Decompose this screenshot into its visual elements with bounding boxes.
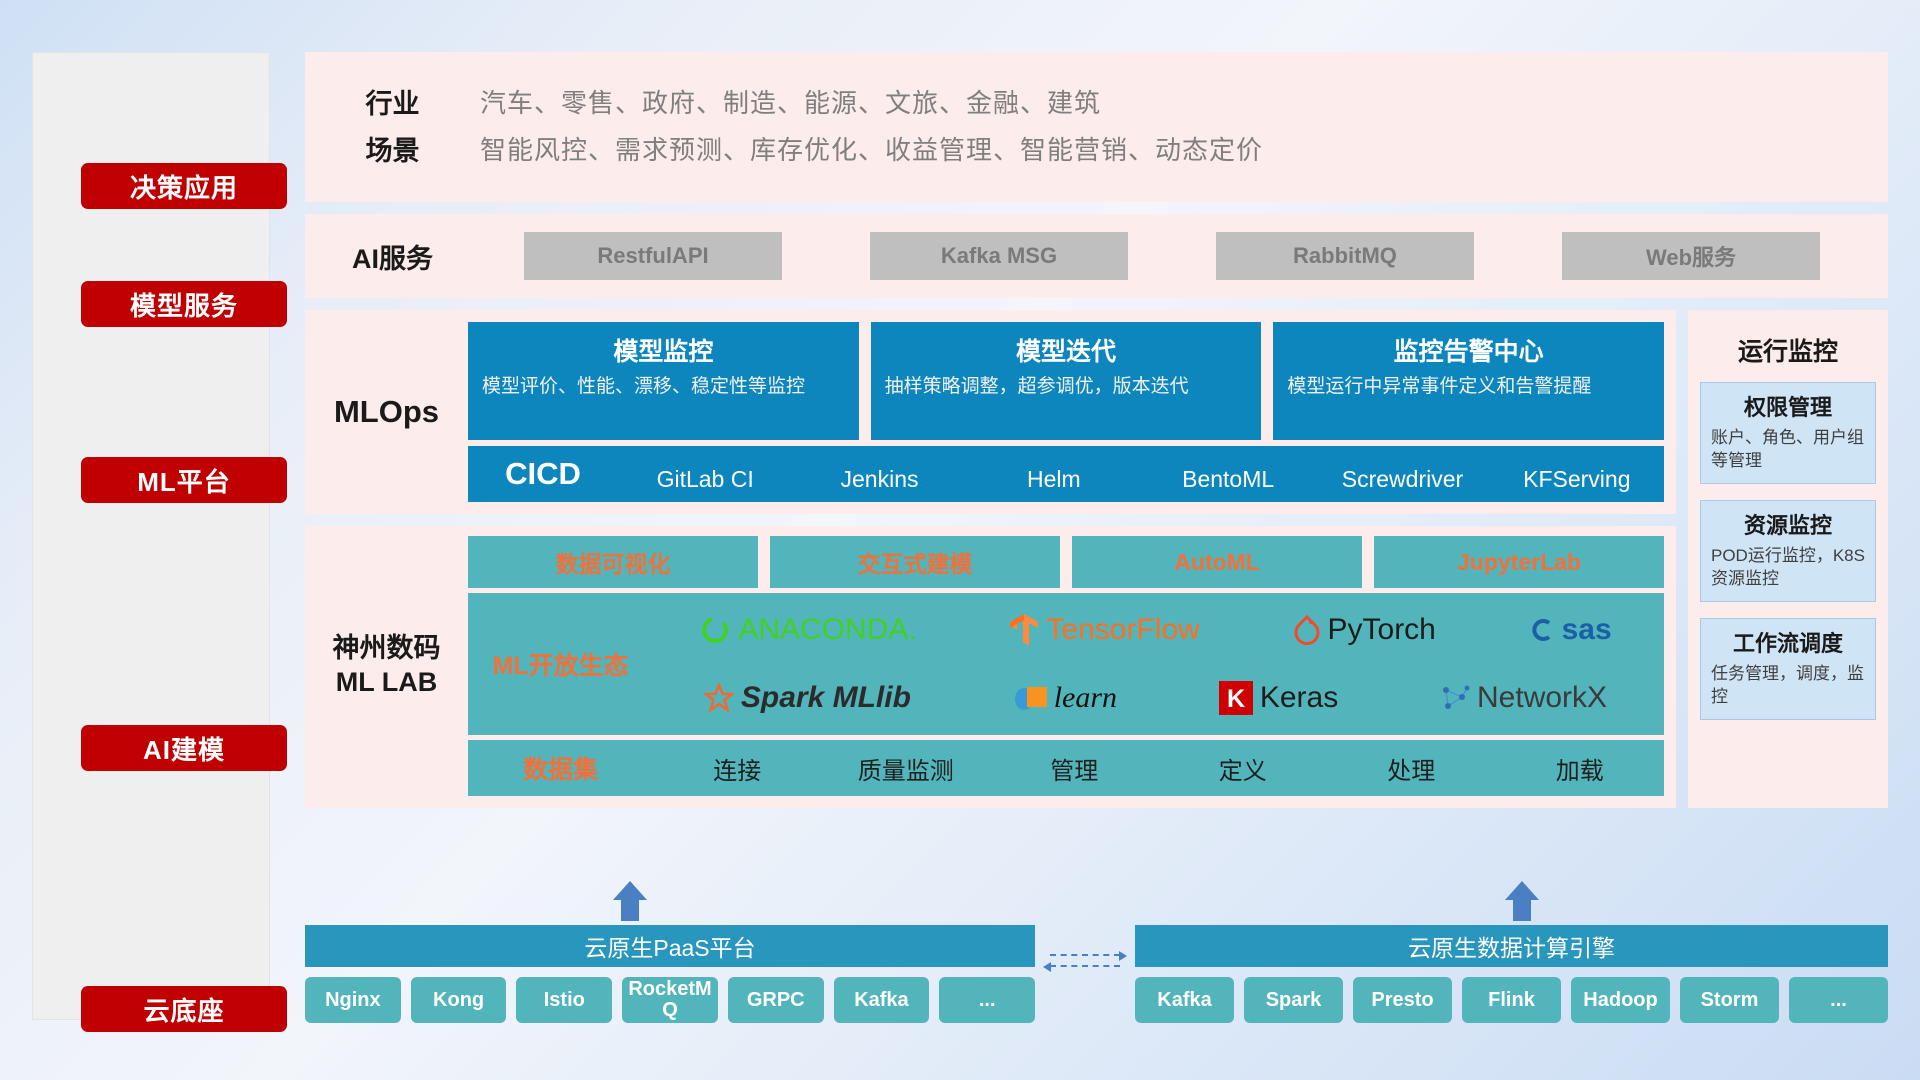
monitor-card-desc: 任务管理，调度，监控 (1711, 663, 1865, 709)
mlops-box-model-monitoring[interactable]: 模型监控 模型评价、性能、漂移、稳定性等监控 (468, 322, 859, 440)
ml-lab-label-line1: 神州数码 (333, 632, 441, 666)
paas-platform-tags: Nginx Kong Istio RocketMQ GRPC Kafka ... (305, 977, 1035, 1023)
networkx-icon (1440, 683, 1470, 713)
ml-lab-band: 神州数码 ML LAB 数据可视化 交互式建模 AutoML JupyterLa… (305, 526, 1676, 808)
paas-platform-group: 云原生PaaS平台 Nginx Kong Istio RocketMQ GRPC… (305, 925, 1035, 1023)
cicd-item-helm[interactable]: Helm (967, 455, 1141, 494)
band-divider (305, 298, 1888, 310)
anaconda-logo: ANACONDA. (699, 613, 916, 647)
keras-logo: K Keras (1219, 681, 1338, 715)
ai-service-chip-rabbitmq[interactable]: RabbitMQ (1216, 232, 1474, 280)
up-arrow-left-icon (613, 881, 647, 921)
pytorch-logo: PyTorch (1293, 613, 1436, 647)
ai-service-chip-restfulapi[interactable]: RestfulAPI (524, 232, 782, 280)
dataset-row: 数据集 连接 质量监测 管理 定义 处理 加载 (468, 740, 1664, 796)
logo-row-2: Spark MLlib learn (653, 665, 1658, 731)
rail-item-label: 决策应用 (130, 168, 238, 205)
anaconda-text: ANACONDA. (738, 613, 916, 647)
dataset-item-process[interactable]: 处理 (1327, 751, 1496, 786)
platform-and-monitoring: MLOps 模型监控 模型评价、性能、漂移、稳定性等监控 模型迭代 抽样策略调整… (305, 310, 1888, 808)
sas-text: sas (1562, 613, 1612, 647)
ml-open-ecosystem: ML开放生态 ANACONDA. (468, 593, 1664, 735)
cicd-item-screwdriver[interactable]: Screwdriver (1315, 455, 1489, 494)
ai-service-label: AI服务 (305, 237, 480, 276)
ai-service-chips: RestfulAPI Kafka MSG RabbitMQ Web服务 (480, 232, 1888, 280)
rail-item-label: 云底座 (143, 991, 224, 1028)
tag-kong[interactable]: Kong (411, 977, 507, 1023)
dashed-arrow-left-icon (1050, 965, 1120, 967)
cicd-item-gitlab-ci[interactable]: GitLab CI (618, 455, 792, 494)
tag-kafka-right[interactable]: Kafka (1135, 977, 1234, 1023)
mlops-box-title: 监控告警中心 (1287, 332, 1650, 368)
main-stack: 行业 汽车、零售、政府、制造、能源、文旅、金融、建筑 场景 智能风控、需求预测、… (305, 52, 1888, 808)
sas-icon (1529, 617, 1555, 643)
ml-open-ecosystem-label: ML开放生态 (468, 593, 653, 735)
cicd-label: CICD (468, 456, 618, 492)
tag-grpc[interactable]: GRPC (728, 977, 824, 1023)
dataset-item-define[interactable]: 定义 (1159, 751, 1328, 786)
dashed-arrow-right-icon (1050, 954, 1120, 956)
ml-lab-label: 神州数码 ML LAB (305, 536, 468, 796)
scenario-row: 场景 智能风控、需求预测、库存优化、收益管理、智能营销、动态定价 (305, 129, 1888, 168)
data-compute-engine-tags: Kafka Spark Presto Flink Hadoop Storm ..… (1135, 977, 1888, 1023)
rail-item-ai-modeling[interactable]: AI建模 (81, 725, 287, 771)
tensorflow-icon (1009, 613, 1039, 647)
bidirectional-dashed-connector (1050, 945, 1120, 976)
mlops-box-desc: 抽样策略调整，超参调优，版本迭代 (885, 375, 1248, 400)
anaconda-icon (699, 614, 731, 646)
monitor-card-workflow[interactable]: 工作流调度 任务管理，调度，监控 (1700, 618, 1876, 720)
tag-presto[interactable]: Presto (1353, 977, 1452, 1023)
sas-logo: sas (1529, 613, 1612, 647)
mlops-box-title: 模型迭代 (885, 332, 1248, 368)
tag-more-left[interactable]: ... (939, 977, 1035, 1023)
data-compute-engine-bar[interactable]: 云原生数据计算引擎 (1135, 925, 1888, 967)
tensorflow-text: TensorFlow (1046, 613, 1199, 647)
data-compute-engine-group: 云原生数据计算引擎 Kafka Spark Presto Flink Hadoo… (1135, 925, 1888, 1023)
rail-item-label: AI建模 (143, 730, 225, 767)
decision-app-band: 行业 汽车、零售、政府、制造、能源、文旅、金融、建筑 场景 智能风控、需求预测、… (305, 52, 1888, 202)
pytorch-text: PyTorch (1328, 613, 1436, 647)
dataset-label: 数据集 (468, 750, 653, 786)
mlops-box-desc: 模型运行中异常事件定义和告警提醒 (1287, 375, 1650, 400)
tag-storm[interactable]: Storm (1680, 977, 1779, 1023)
industry-value: 汽车、零售、政府、制造、能源、文旅、金融、建筑 (480, 83, 1101, 120)
monitor-card-resource[interactable]: 资源监控 POD运行监控，K8S资源监控 (1700, 500, 1876, 602)
tag-rocketmq[interactable]: RocketMQ (622, 977, 718, 1023)
up-arrow-right-icon (1505, 881, 1539, 921)
tag-istio[interactable]: Istio (516, 977, 612, 1023)
industry-label: 行业 (305, 82, 480, 121)
ml-lab-tabs: 数据可视化 交互式建模 AutoML JupyterLab (468, 536, 1664, 588)
scikit-learn-text: learn (1054, 681, 1117, 715)
monitor-card-title: 资源监控 (1711, 508, 1865, 540)
cloud-base-section: 云原生PaaS平台 Nginx Kong Istio RocketMQ GRPC… (305, 893, 1888, 1021)
dataset-item-quality-monitor[interactable]: 质量监测 (822, 751, 991, 786)
rail-item-ml-platform[interactable]: ML平台 (81, 457, 287, 503)
dataset-item-manage[interactable]: 管理 (990, 751, 1159, 786)
monitor-card-title: 权限管理 (1711, 390, 1865, 422)
mlops-band: MLOps 模型监控 模型评价、性能、漂移、稳定性等监控 模型迭代 抽样策略调整… (305, 310, 1676, 514)
rail-item-label: ML平台 (137, 462, 231, 499)
ai-service-band: AI服务 RestfulAPI Kafka MSG RabbitMQ Web服务 (305, 214, 1888, 298)
dataset-item-load[interactable]: 加载 (1496, 751, 1665, 786)
monitor-card-desc: POD运行监控，K8S资源监控 (1711, 545, 1865, 591)
rail-item-model-service[interactable]: 模型服务 (81, 281, 287, 327)
svg-text:K: K (1227, 685, 1245, 713)
tab-interactive-modeling[interactable]: 交互式建模 (770, 536, 1060, 588)
mlops-label: MLOps (305, 322, 468, 502)
keras-icon: K (1219, 681, 1253, 715)
cicd-item-bentoml[interactable]: BentoML (1141, 455, 1315, 494)
mlops-box-model-iteration[interactable]: 模型迭代 抽样策略调整，超参调优，版本迭代 (871, 322, 1262, 440)
cicd-row: CICD GitLab CI Jenkins Helm BentoML Scre… (468, 446, 1664, 502)
spark-mllib-text: Spark MLlib (741, 681, 911, 715)
tab-data-visualization[interactable]: 数据可视化 (468, 536, 758, 588)
pytorch-icon (1293, 614, 1321, 646)
mlops-boxes: 模型监控 模型评价、性能、漂移、稳定性等监控 模型迭代 抽样策略调整，超参调优，… (468, 322, 1664, 440)
cicd-item-kfserving[interactable]: KFServing (1490, 455, 1664, 494)
rail-item-cloud-base[interactable]: 云底座 (81, 986, 287, 1032)
tag-more-right[interactable]: ... (1789, 977, 1888, 1023)
tab-automl[interactable]: AutoML (1072, 536, 1362, 588)
spark-star-icon (704, 683, 734, 713)
mlops-box-title: 模型监控 (482, 332, 845, 368)
rail-item-decision-app[interactable]: 决策应用 (81, 163, 287, 209)
tag-spark[interactable]: Spark (1244, 977, 1343, 1023)
paas-platform-bar[interactable]: 云原生PaaS平台 (305, 925, 1035, 967)
architecture-diagram: 决策应用 模型服务 ML平台 AI建模 云底座 行业 汽车、零售、政府、制造、能… (0, 0, 1920, 1080)
tag-kafka[interactable]: Kafka (834, 977, 930, 1023)
cicd-item-jenkins[interactable]: Jenkins (792, 455, 966, 494)
tensorflow-logo: TensorFlow (1009, 613, 1199, 647)
tag-flink[interactable]: Flink (1462, 977, 1561, 1023)
monitor-card-permission[interactable]: 权限管理 账户、角色、用户组等管理 (1700, 382, 1876, 484)
mlops-box-desc: 模型评价、性能、漂移、稳定性等监控 (482, 375, 845, 400)
ml-lab-label-line2: ML LAB (333, 666, 441, 700)
tab-jupyterlab[interactable]: JupyterLab (1374, 536, 1664, 588)
monitor-card-title: 工作流调度 (1711, 626, 1865, 658)
ai-service-chip-kafka-msg[interactable]: Kafka MSG (870, 232, 1128, 280)
spark-mllib-logo: Spark MLlib (704, 681, 911, 715)
rail-item-label: 模型服务 (130, 286, 238, 323)
monitor-card-desc: 账户、角色、用户组等管理 (1711, 427, 1865, 473)
scenario-value: 智能风控、需求预测、库存优化、收益管理、智能营销、动态定价 (480, 130, 1263, 167)
ai-service-chip-web-service[interactable]: Web服务 (1562, 232, 1820, 280)
tag-hadoop[interactable]: Hadoop (1571, 977, 1670, 1023)
networkx-text: NetworkX (1477, 683, 1607, 713)
networkx-logo: NetworkX (1440, 683, 1607, 713)
keras-text: Keras (1260, 681, 1338, 715)
band-divider (305, 202, 1888, 214)
scikit-learn-icon (1013, 683, 1047, 713)
scenario-label: 场景 (305, 129, 480, 168)
mlops-box-alert-center[interactable]: 监控告警中心 模型运行中异常事件定义和告警提醒 (1273, 322, 1664, 440)
runtime-monitoring-title: 运行监控 (1700, 332, 1876, 368)
dataset-item-connect[interactable]: 连接 (653, 751, 822, 786)
runtime-monitoring-column: 运行监控 权限管理 账户、角色、用户组等管理 资源监控 POD运行监控，K8S资… (1688, 310, 1888, 808)
scikit-learn-logo: learn (1013, 681, 1117, 715)
left-rail: 决策应用 模型服务 ML平台 AI建模 云底座 (32, 52, 270, 1020)
logo-row-1: ANACONDA. TensorFlow (653, 597, 1658, 663)
industry-row: 行业 汽车、零售、政府、制造、能源、文旅、金融、建筑 (305, 82, 1888, 121)
tag-nginx[interactable]: Nginx (305, 977, 401, 1023)
